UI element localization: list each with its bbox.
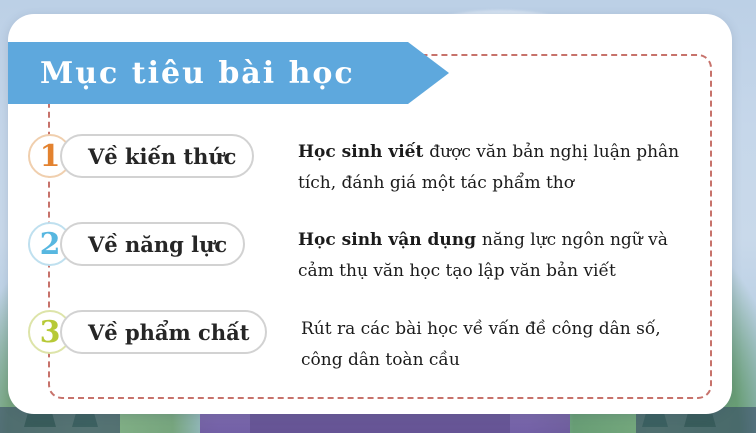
objective-text-1: Học sinh viết được văn bản nghị luận phâ… xyxy=(298,137,688,199)
objective-text-1-bold: Học sinh viết xyxy=(298,142,429,162)
objective-label-1: Về kiến thức xyxy=(60,134,254,178)
objective-text-2: Học sinh vận dụng năng lực ngôn ngữ và c… xyxy=(298,225,688,287)
title-banner: Mục tiêu bài học xyxy=(8,42,408,104)
objective-text-3-rest: Rút ra các bài học về vấn đề công dân số… xyxy=(301,319,661,370)
objective-row-3: 3 Về phẩm chất xyxy=(28,310,267,354)
objective-row-2: 2 Về năng lực xyxy=(28,222,245,266)
objective-text-3: Rút ra các bài học về vấn đề công dân số… xyxy=(301,314,691,376)
objective-label-2: Về năng lực xyxy=(60,222,245,266)
page-title: Mục tiêu bài học xyxy=(8,56,355,91)
slide-stage: Mục tiêu bài học 1 Về kiến thức Học sinh… xyxy=(0,0,756,433)
objective-row-1: 1 Về kiến thức xyxy=(28,134,254,178)
content-card: Mục tiêu bài học 1 Về kiến thức Học sinh… xyxy=(8,14,732,414)
objective-text-2-bold: Học sinh vận dụng xyxy=(298,230,482,250)
objective-label-3: Về phẩm chất xyxy=(60,310,267,354)
